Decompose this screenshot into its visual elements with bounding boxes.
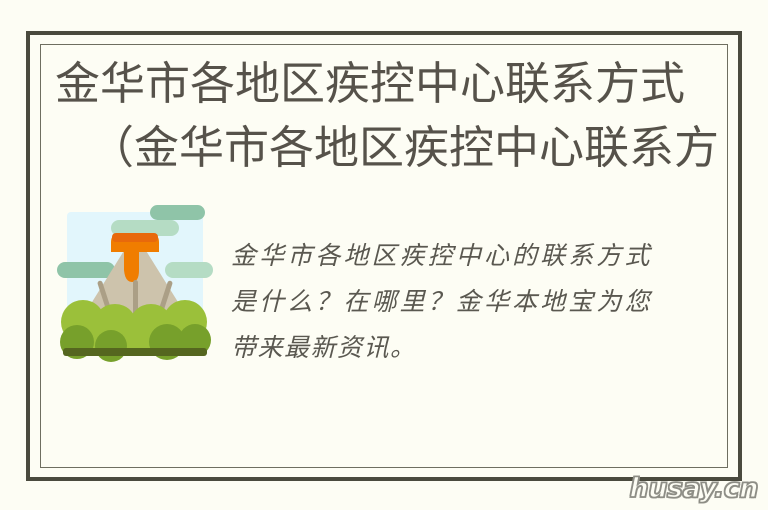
cloud-right bbox=[165, 262, 213, 278]
cloud-left bbox=[57, 262, 115, 278]
ground-bar bbox=[63, 348, 207, 356]
site-watermark: husay.cn bbox=[629, 473, 758, 504]
bush-dark-b bbox=[95, 330, 127, 362]
article-cover-card: 金华市各地区疾控中心联系方式 （金华市各地区疾控中心联系方 bbox=[0, 0, 768, 510]
content-row: 金华市各地区疾控中心的联系方式是什么？在哪里？金华本地宝为您带来最新资讯。 bbox=[55, 200, 715, 375]
crater-top bbox=[112, 233, 158, 242]
title-line-2: （金华市各地区疾控中心联系方 bbox=[89, 116, 720, 180]
page-title: 金华市各地区疾控中心联系方式 （金华市各地区疾控中心联系方 bbox=[55, 52, 720, 180]
article-summary: 金华市各地区疾控中心的联系方式是什么？在哪里？金华本地宝为您带来最新资讯。 bbox=[231, 233, 651, 371]
lava-flow bbox=[124, 250, 139, 282]
title-line-1: 金华市各地区疾控中心联系方式 bbox=[55, 52, 720, 116]
cloud-top-right bbox=[150, 205, 205, 220]
volcano-illustration bbox=[55, 200, 215, 370]
